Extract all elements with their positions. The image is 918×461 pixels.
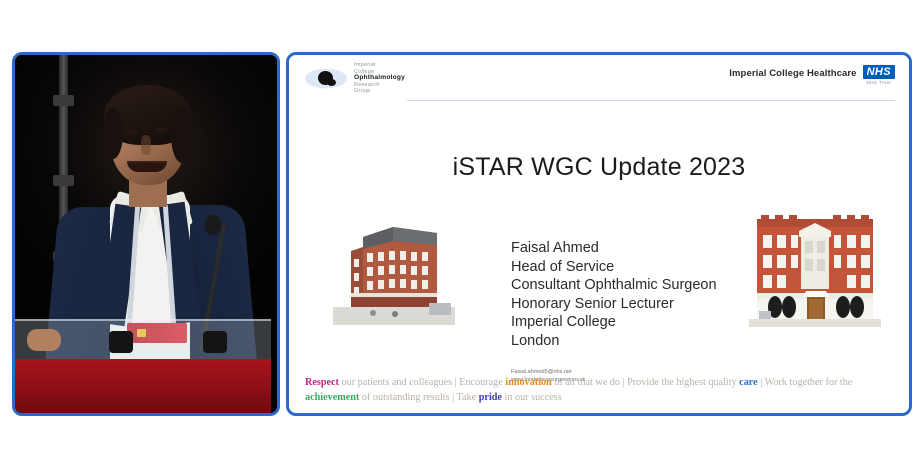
iorg-logo-text: Imperial College Ophthalmology Research … <box>354 62 405 95</box>
header-divider <box>407 100 895 101</box>
slide-header: Imperial College Ophthalmology Research … <box>289 55 909 101</box>
pole-bracket-mid <box>53 175 74 186</box>
value-word-pride: pride <box>479 392 502 403</box>
mouth <box>127 161 167 172</box>
eye-left <box>125 129 138 135</box>
left-building-image <box>333 207 455 325</box>
value-word-achievement: achievement <box>305 392 359 403</box>
nhs-logo: NHS NHS Trust <box>863 65 895 85</box>
right-building-image <box>749 207 881 327</box>
hair-side-right <box>171 107 193 163</box>
nhs-subtitle: NHS Trust <box>866 80 891 85</box>
lectern-clamp-right <box>203 331 227 353</box>
contact-email[interactable]: Faisal.ahmed5@nhs.net <box>511 368 585 376</box>
nhs-trust-logo: Imperial College Healthcare NHS NHS Trus… <box>729 65 895 85</box>
presenter-role: Head of Service <box>511 258 717 277</box>
nhs-mark: NHS <box>863 65 895 79</box>
logo-line-group: Group <box>354 88 405 95</box>
hair-side-left <box>103 107 123 159</box>
presenter-name: Faisal Ahmed <box>511 239 717 258</box>
hand <box>27 329 61 351</box>
eyebrow-left <box>122 122 140 126</box>
value-word-care: care <box>739 377 757 388</box>
value-word-innovation: innovation <box>505 377 551 388</box>
trust-name: Imperial College Healthcare <box>729 65 856 79</box>
value-word-respect: Respect <box>305 377 339 388</box>
values-text-1: our patients and colleagues | Encourage <box>339 377 505 388</box>
podium-front <box>15 359 271 413</box>
slide-title: iSTAR WGC Update 2023 <box>289 153 909 182</box>
screenshot-canvas: Imperial College Ophthalmology Research … <box>0 0 918 461</box>
microphone-head <box>205 215 221 235</box>
eyebrow-right <box>153 119 172 123</box>
speaker-photo-panel <box>12 52 280 416</box>
trust-values-banner: Respect our patients and colleagues | En… <box>305 376 899 405</box>
pole-bracket-top <box>53 95 74 106</box>
presenter-position: Consultant Ophthalmic Surgeon <box>511 276 717 295</box>
values-text-3: | Work together for the <box>758 377 853 388</box>
values-text-5: in our success <box>502 392 562 403</box>
presenter-academic-title: Honorary Senior Lecturer <box>511 295 717 314</box>
nose <box>141 135 151 155</box>
presenter-city: London <box>511 332 717 351</box>
presenter-details: Faisal Ahmed Head of Service Consultant … <box>511 239 717 351</box>
lectern-clamp-left <box>109 331 133 353</box>
logo-line-imperial: Imperial <box>354 62 405 69</box>
eye-right <box>155 127 168 133</box>
eye-icon <box>305 67 347 89</box>
iorg-logo: Imperial College Ophthalmology Research … <box>305 62 405 95</box>
presenter-institution: Imperial College <box>511 313 717 332</box>
logo-line-research: Research <box>354 82 405 89</box>
speaker-photo <box>15 55 277 413</box>
values-text-4: of outstanding results | Take <box>359 392 478 403</box>
presentation-slide: Imperial College Ophthalmology Research … <box>286 52 912 416</box>
logo-line-ophthalmology: Ophthalmology <box>354 75 405 82</box>
values-text-2: in all that we do | Provide the highest … <box>552 377 739 388</box>
